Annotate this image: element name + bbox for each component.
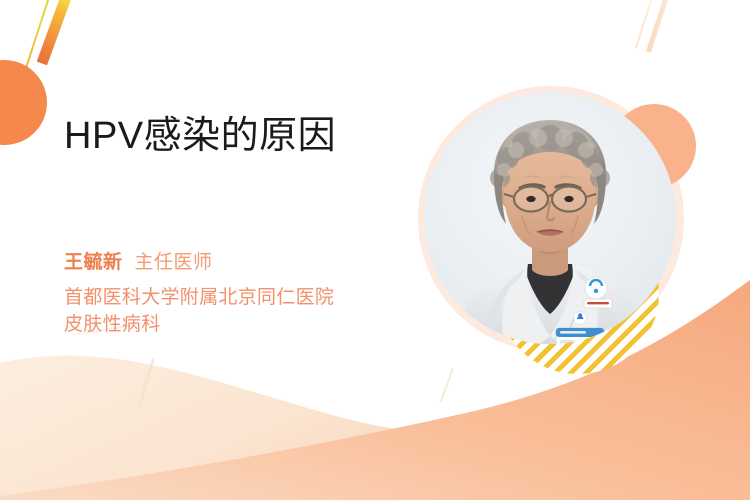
doctor-affiliation: 首都医科大学附属北京同仁医院 皮肤性病科 [64,285,334,339]
presentation-slide: HPV感染的原因 王毓新 主任医师 首都医科大学附属北京同仁医院 皮肤性病科 [0,0,750,500]
decorative-faint-stroke-b-icon [635,0,653,48]
affiliation-line-2: 皮肤性病科 [64,312,334,339]
decorative-faint-stroke-a-icon [646,0,669,53]
decorative-hairline-a [138,358,155,407]
doctor-portrait-photo [424,92,676,344]
affiliation-line-1: 首都医科大学附属北京同仁医院 [64,285,334,312]
doctor-role: 主任医师 [135,247,213,274]
doctor-name: 王毓新 [64,247,123,274]
page-title: HPV感染的原因 [64,114,336,160]
doctor-byline: 王毓新 主任医师 [64,247,213,274]
decorative-thick-stroke-icon [37,0,73,65]
decorative-orange-circle [0,60,47,145]
decorative-thin-stroke-icon [24,0,51,71]
decorative-hairline-b [440,368,454,403]
portrait-illustration [424,92,676,344]
